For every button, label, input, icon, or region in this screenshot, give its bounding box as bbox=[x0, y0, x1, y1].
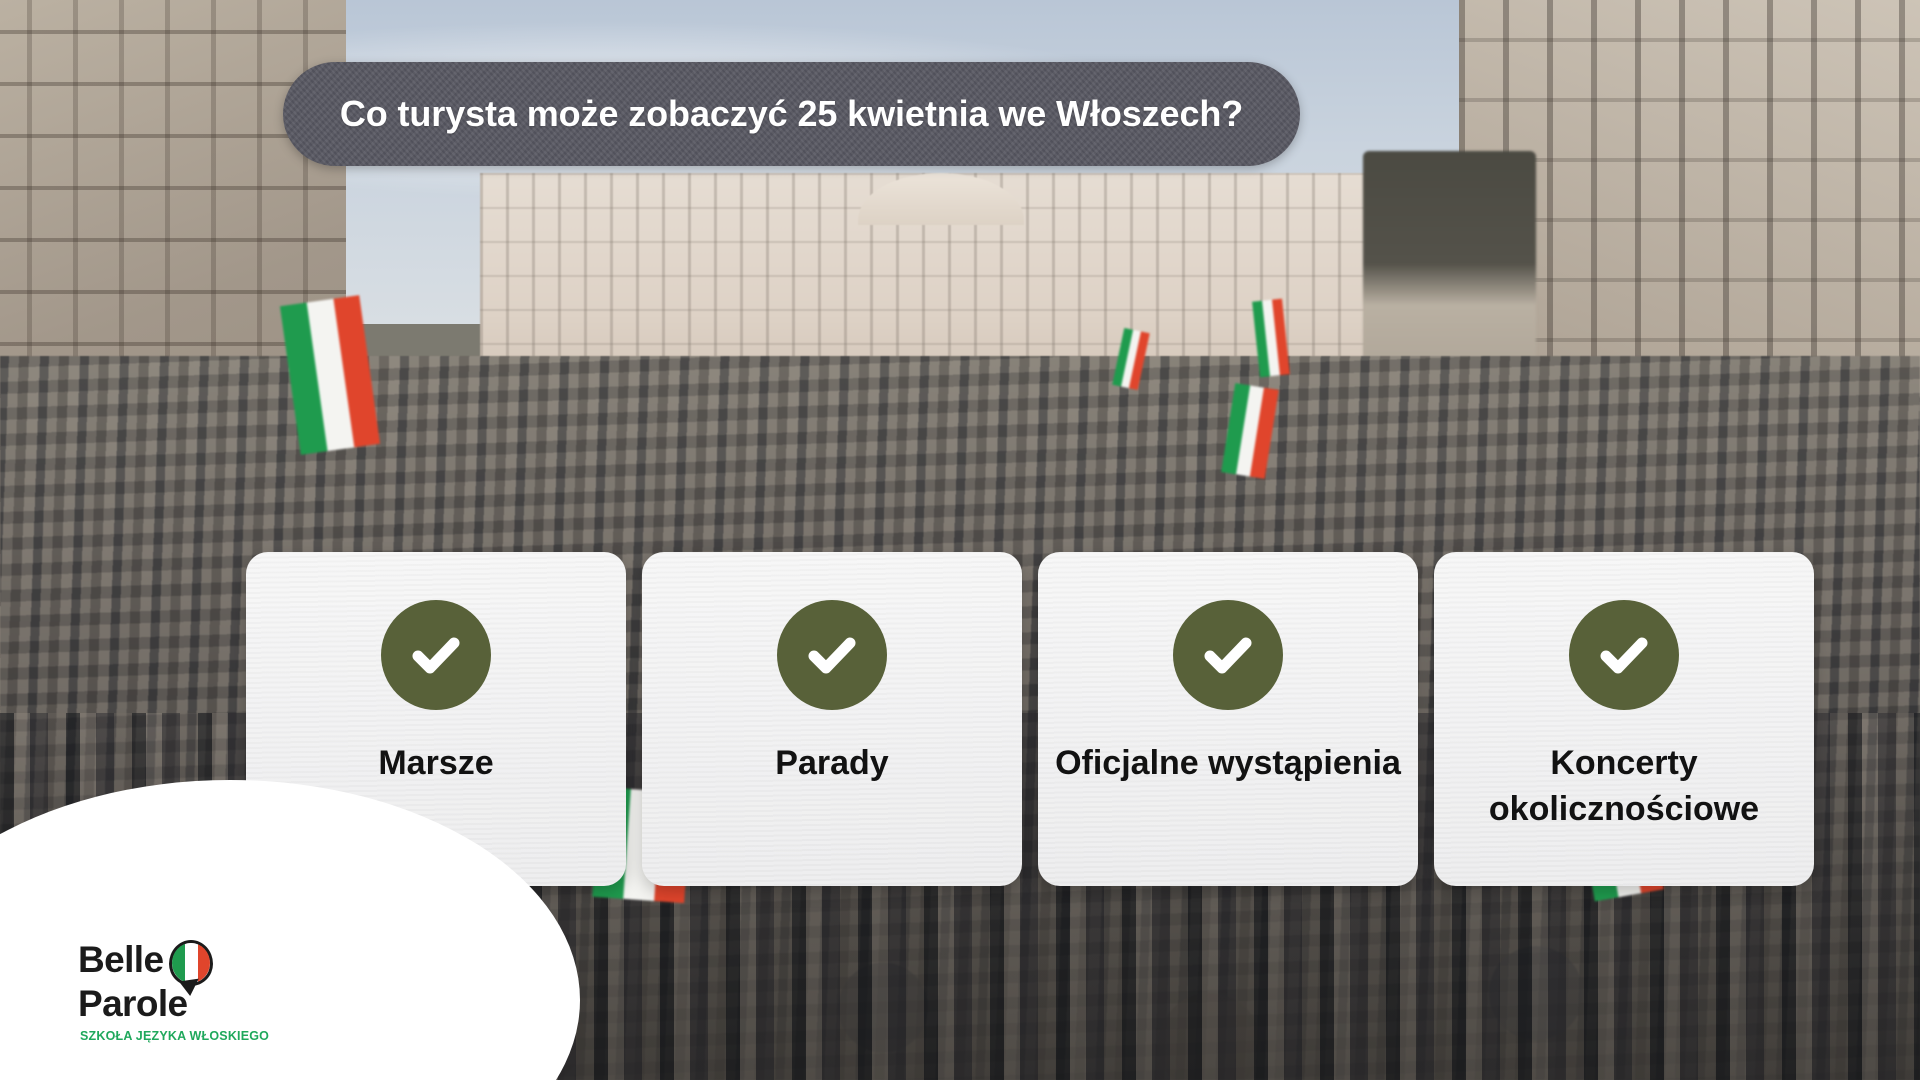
feature-card-label: Parady bbox=[642, 740, 1022, 786]
logo-tagline: SZKOŁA JĘZYKA WŁOSKIEGO bbox=[80, 1029, 338, 1043]
feature-card-label: Marsze bbox=[246, 740, 626, 786]
italian-flag-speech-bubble-icon bbox=[169, 940, 213, 986]
check-circle-icon bbox=[777, 600, 887, 710]
feature-card-label: Koncerty okolicznościowe bbox=[1434, 740, 1814, 832]
logo-word-parole: Parole bbox=[78, 986, 338, 1022]
slide-canvas: Co turysta może zobaczyć 25 kwietnia we … bbox=[0, 0, 1920, 1080]
check-circle-icon bbox=[1173, 600, 1283, 710]
brand-logo[interactable]: Belle Parole SZKOŁA JĘZYKA WŁOSKIEGO bbox=[78, 942, 338, 1062]
feature-card[interactable]: Oficjalne wystąpienia bbox=[1038, 552, 1418, 886]
logo-first-line: Belle bbox=[78, 942, 338, 986]
feature-card[interactable]: Parady bbox=[642, 552, 1022, 886]
check-circle-icon bbox=[1569, 600, 1679, 710]
feature-card[interactable]: Koncerty okolicznościowe bbox=[1434, 552, 1814, 886]
bubble-tail bbox=[179, 979, 201, 998]
page-title: Co turysta może zobaczyć 25 kwietnia we … bbox=[340, 93, 1243, 135]
feature-card-label: Oficjalne wystąpienia bbox=[1038, 740, 1418, 786]
logo-word-belle: Belle bbox=[78, 942, 163, 978]
check-circle-icon bbox=[381, 600, 491, 710]
title-banner: Co turysta może zobaczyć 25 kwietnia we … bbox=[283, 62, 1300, 166]
